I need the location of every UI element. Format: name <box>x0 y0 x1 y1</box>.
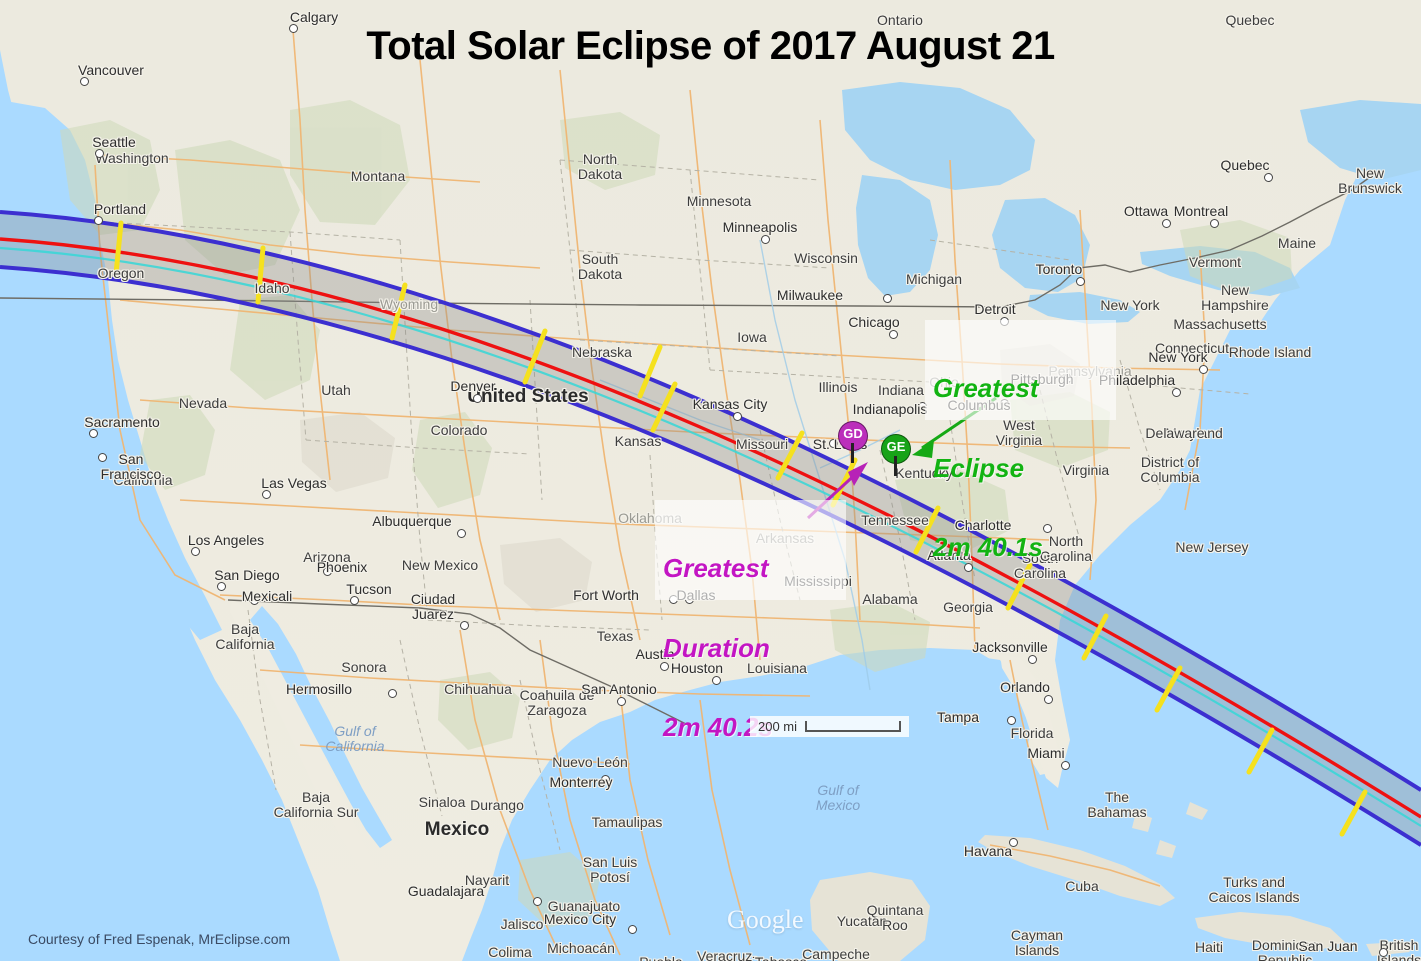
google-watermark: Google <box>727 905 804 935</box>
state-label: Indiana <box>878 383 924 398</box>
city-dot <box>617 697 626 706</box>
city-label: San Francisco <box>101 452 162 481</box>
state-label: Oregon <box>98 266 145 281</box>
state-label: Quintana Roo <box>867 903 924 932</box>
city-dot <box>388 689 397 698</box>
state-label: South Dakota <box>578 252 622 281</box>
city-label: Ciudad Juarez <box>411 592 455 621</box>
state-label: Colima <box>488 945 532 960</box>
city-dot <box>1199 365 1208 374</box>
scale-label: 200 mi <box>758 719 797 734</box>
city-dot <box>761 235 770 244</box>
city-dot <box>457 529 466 538</box>
city-dot <box>628 925 637 934</box>
city-label: Monterrey <box>549 775 612 790</box>
city-label: Montreal <box>1174 204 1228 219</box>
state-label: Haiti <box>1195 940 1223 955</box>
city-label: Albuquerque <box>372 514 451 529</box>
city-label: San Juan <box>1298 939 1357 954</box>
city-label: Denver <box>450 379 495 394</box>
city-label: Indianapolis <box>853 402 928 417</box>
state-label: Tabasco <box>755 955 807 961</box>
city-label: Mexicali <box>242 589 293 604</box>
city-label: Milwaukee <box>777 288 843 303</box>
city-label: Ottawa <box>1124 204 1168 219</box>
state-label: Michigan <box>906 272 962 287</box>
state-label: District of Columbia <box>1140 455 1199 484</box>
state-label: Jalisco <box>501 917 544 932</box>
city-dot <box>1162 219 1171 228</box>
city-label: Phoenix <box>317 560 368 575</box>
state-label: Wisconsin <box>794 251 858 266</box>
page-title: Total Solar Eclipse of 2017 August 21 <box>0 24 1421 69</box>
state-label: Tennessee <box>861 513 929 528</box>
city-dot <box>533 897 542 906</box>
state-label: Campeche <box>802 947 870 961</box>
state-label: Alabama <box>862 592 917 607</box>
state-label: Vermont <box>1189 255 1241 270</box>
city-label: Calgary <box>290 10 338 25</box>
scale-ruler <box>805 721 901 732</box>
state-label: Utah <box>321 383 351 398</box>
state-label: New Hampshire <box>1201 283 1269 312</box>
greatest-eclipse-pin[interactable]: GE <box>881 434 911 476</box>
state-label: Turks and Caicos Islands <box>1208 875 1299 904</box>
ge-line1: Greatest <box>933 375 1108 402</box>
city-label: New York <box>1148 350 1207 365</box>
city-dot <box>1264 173 1273 182</box>
state-label: Cayman Islands <box>1011 928 1063 957</box>
state-label: New Jersey <box>1175 540 1248 555</box>
greatest-duration-pin[interactable]: GD <box>838 421 868 463</box>
city-dot <box>733 412 742 421</box>
city-dot <box>1210 219 1219 228</box>
map-labels-layer: United StatesMexicoWashingtonOregonIdaho… <box>0 0 1421 961</box>
state-label: Delaware <box>1145 426 1204 441</box>
city-label: San Diego <box>214 568 279 583</box>
city-dot <box>1172 388 1181 397</box>
city-label: Seattle <box>92 135 136 150</box>
state-label: Minnesota <box>687 194 752 209</box>
state-label: Colorado <box>431 423 488 438</box>
state-label: Massachusetts <box>1173 317 1266 332</box>
city-dot <box>1028 655 1037 664</box>
eclipse-map-page: United StatesMexicoWashingtonOregonIdaho… <box>0 0 1421 961</box>
state-label: Sinaloa <box>419 795 466 810</box>
city-dot <box>883 294 892 303</box>
city-dot <box>889 330 898 339</box>
city-label: Tucson <box>346 582 391 597</box>
water-label: Gulf of California <box>325 724 384 753</box>
pin-label: GE <box>881 439 911 454</box>
state-label: Cuba <box>1065 879 1098 894</box>
city-label: Tampa <box>937 710 979 725</box>
city-label: Guadalajara <box>408 884 484 899</box>
state-label: New York <box>1100 298 1159 313</box>
pin-tail <box>894 456 897 476</box>
city-label: Detroit <box>974 302 1015 317</box>
credit-text: Courtesy of Fred Espenak, MrEclipse.com <box>28 931 290 947</box>
city-dot <box>1379 948 1388 957</box>
city-label: Quebec <box>1220 158 1269 173</box>
state-label: Veracruz- <box>697 949 757 961</box>
state-label: New Mexico <box>402 558 478 573</box>
city-dot <box>1076 277 1085 286</box>
city-label: Sacramento <box>84 415 159 430</box>
city-dot <box>473 394 482 403</box>
city-label: Kansas City <box>693 397 768 412</box>
country-label: Mexico <box>425 820 489 840</box>
state-label: Baja California Sur <box>274 790 359 819</box>
city-label: Jacksonville <box>972 640 1047 655</box>
pin-label: GD <box>838 426 868 441</box>
state-label: Texas <box>597 629 634 644</box>
state-label: Kansas <box>615 434 662 449</box>
city-label: Los Angeles <box>188 533 264 548</box>
state-label: Iowa <box>737 330 767 345</box>
city-label: Toronto <box>1036 262 1083 277</box>
city-dot <box>1061 761 1070 770</box>
state-label: The Bahamas <box>1087 790 1146 819</box>
state-label: Chihuahua <box>444 682 512 697</box>
state-label: Michoacán <box>547 941 615 956</box>
city-label: Orlando <box>1000 680 1050 695</box>
scale-bar: 200 mi <box>750 716 909 737</box>
state-label: Maine <box>1278 236 1316 251</box>
state-label: Montana <box>351 169 405 184</box>
city-dot <box>460 621 469 630</box>
ge-line2: Eclipse <box>933 455 1108 482</box>
city-label: Minneapolis <box>723 220 798 235</box>
state-label: Wyoming <box>380 297 438 312</box>
gd-line2: Duration <box>663 635 838 662</box>
state-label: Illinois <box>819 380 858 395</box>
state-label: Sonora <box>341 660 386 675</box>
city-label: Miami <box>1027 746 1064 761</box>
city-dot <box>1044 695 1053 704</box>
state-label: Washington <box>95 151 168 166</box>
state-label: North Dakota <box>578 152 622 181</box>
city-label: Havana <box>964 844 1012 859</box>
city-label: Mexico City <box>544 912 616 927</box>
city-label: San Antonio <box>581 682 657 697</box>
state-label: Durango <box>470 798 524 813</box>
state-label: Nevada <box>179 396 227 411</box>
city-label: Hermosillo <box>286 682 352 697</box>
pin-tail <box>851 443 854 463</box>
state-label: San Luis Potosí <box>583 855 637 884</box>
gd-line1: Greatest <box>663 555 838 582</box>
state-label: New Brunswick <box>1338 166 1402 195</box>
state-label: Nebraska <box>572 345 632 360</box>
city-label: Chicago <box>848 315 899 330</box>
greatest-duration-annotation: Greatest Duration 2m 40.2s <box>655 500 846 600</box>
state-label: Rhode Island <box>1229 345 1312 360</box>
state-label: Idaho <box>254 281 289 296</box>
city-label: Las Vegas <box>261 476 326 491</box>
city-label: Portland <box>94 202 146 217</box>
state-label: Baja California <box>215 622 274 651</box>
city-dot <box>1007 716 1016 725</box>
ge-line3: 2m 40.1s <box>933 534 1108 561</box>
city-label: Fort Worth <box>573 588 639 603</box>
state-label: Nuevo León <box>552 755 628 770</box>
state-label: Missouri <box>736 437 788 452</box>
state-label: Florida <box>1011 726 1054 741</box>
greatest-eclipse-annotation: Greatest Eclipse 2m 40.1s <box>925 320 1116 420</box>
state-label: Puebla <box>639 955 683 961</box>
state-label: Tamaulipas <box>592 815 663 830</box>
